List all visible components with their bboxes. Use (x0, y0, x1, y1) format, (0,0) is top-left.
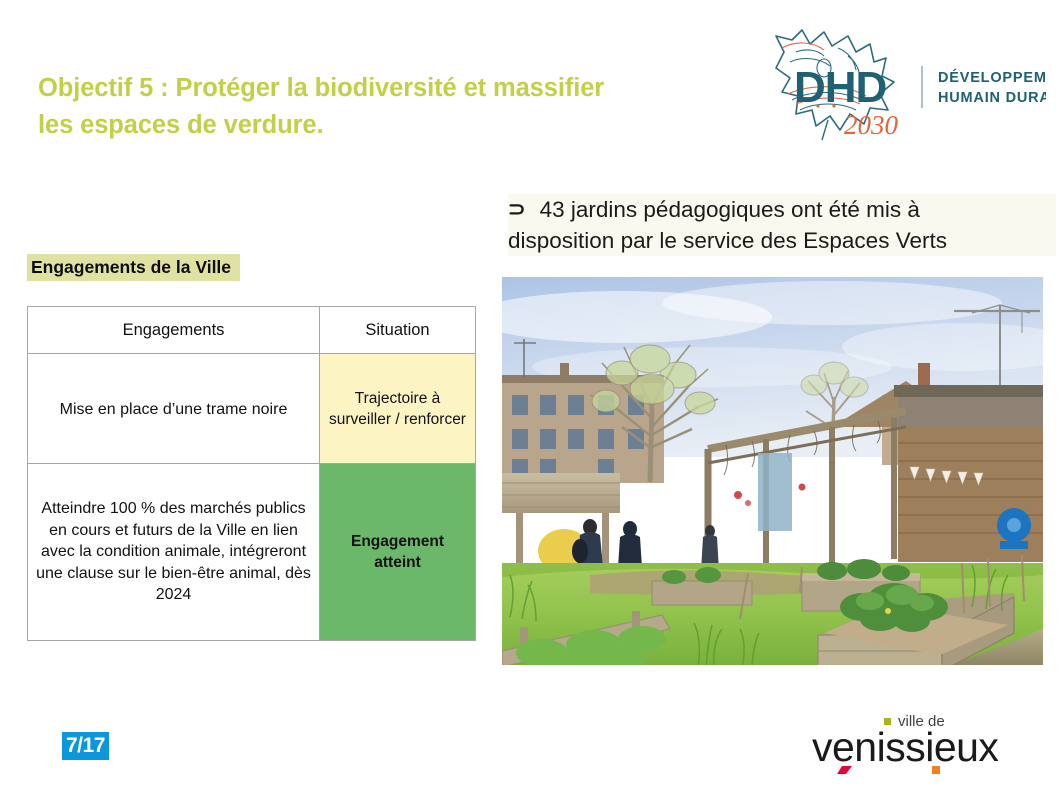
page-title-line-1: Objectif 5 : Protéger la biodiversité et… (38, 74, 604, 102)
page-title-line-2: les espaces de verdure. (38, 107, 718, 144)
table-row: Atteindre 100 % des marchés publics en c… (28, 464, 476, 641)
engagements-table: Engagements Situation Mise en place d’un… (27, 306, 476, 641)
dhd-logo: DHD DÉVELOPPEMENT HUMAIN DURABLE 2030 (762, 22, 1046, 144)
status-badge: Engagement atteint (320, 464, 476, 641)
engagement-cell: Mise en place d’une trame noire (28, 354, 320, 464)
loop-arrow-icon: ⊃ (508, 194, 526, 225)
status-badge: Trajectoire à surveiller / renforcer (320, 354, 476, 464)
dhd-tagline-line-2: HUMAIN DURABLE (938, 90, 1046, 106)
column-header-situation: Situation (320, 307, 476, 354)
callout-line-1-text: 43 jardins pédagogiques ont été mis à (540, 197, 920, 222)
callout-text: ⊃43 jardins pédagogiques ont été mis à d… (508, 194, 1056, 256)
callout-line-2: disposition par le service des Espaces V… (508, 225, 1056, 256)
garden-photo (502, 277, 1043, 665)
page-number: 7/17 (62, 732, 109, 760)
dhd-tagline-line-1: DÉVELOPPEMENT (938, 69, 1046, 86)
dhd-acronym: DHD (794, 63, 886, 112)
callout-line-1: ⊃43 jardins pédagogiques ont été mis à (508, 194, 1056, 225)
engagement-cell: Atteindre 100 % des marchés publics en c… (28, 464, 320, 641)
venissieux-logo: ville de venissieux (806, 706, 1044, 776)
section-heading: Engagements de la Ville (27, 254, 240, 281)
table-header-row: Engagements Situation (28, 307, 476, 354)
venissieux-wordmark: venissieux (812, 724, 999, 770)
page-title: Objectif 5 : Protéger la biodiversité et… (38, 70, 718, 144)
orange-square-icon (932, 766, 940, 774)
table-row: Mise en place d’une trame noire Trajecto… (28, 354, 476, 464)
dhd-year: 2030 (844, 110, 899, 140)
column-header-engagements: Engagements (28, 307, 320, 354)
